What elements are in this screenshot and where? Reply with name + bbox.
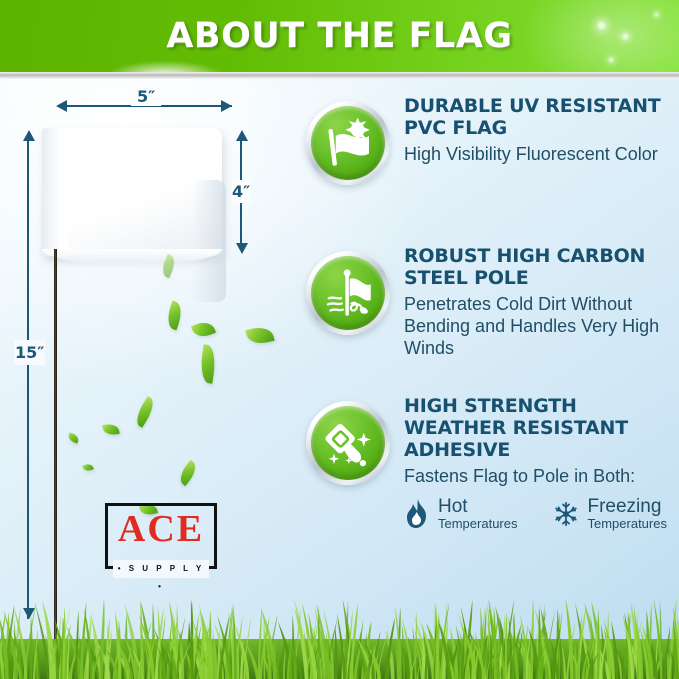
header-flare: [105, 60, 225, 72]
temperature-main-label: Hot: [438, 497, 517, 517]
flame-icon: [404, 499, 430, 529]
temperature-main-label: Freezing: [587, 497, 666, 517]
temperature-label-group: Freezing Temperatures: [587, 497, 666, 531]
width-arrow-left-icon: [56, 100, 67, 112]
leaf-icon: [176, 460, 200, 486]
ace-supply-logo: ACE • S U P P L Y •: [105, 503, 217, 569]
leaf-icon: [198, 344, 217, 384]
feature-item-uv-resistant: DURABLE UV RESISTANT PVC FLAG High Visib…: [300, 95, 679, 245]
temperature-label-group: Hot Temperatures: [438, 497, 517, 531]
feature-title: ROBUST HIGH CARBON STEEL POLE: [404, 245, 679, 289]
leaf-icon: [191, 319, 216, 341]
height-dimension-label: 4″: [232, 180, 250, 203]
infographic-page: ABOUT THE FLAG 5″ 4″ 15″: [0, 0, 679, 679]
feature-badge: [306, 251, 390, 335]
feature-item-adhesive: HIGH STRENGTH WEATHER RESISTANT ADHESIVE…: [300, 395, 679, 545]
pole-arrow-up-icon: [23, 130, 35, 141]
width-arrow-right-icon: [221, 100, 232, 112]
temperature-sub-label: Temperatures: [587, 517, 666, 531]
leaf-icon: [132, 396, 158, 428]
pole-dimension-line: [27, 141, 29, 619]
feature-description: Fastens Flag to Pole in Both:: [404, 465, 679, 487]
leaf-icon: [102, 423, 119, 436]
sparkle-icon: [609, 58, 613, 62]
feature-badge: [306, 401, 390, 485]
flag-shading: [192, 180, 226, 302]
temperature-sub-label: Temperatures: [438, 517, 517, 531]
temperature-item-freezing: Freezing Temperatures: [553, 497, 666, 531]
feature-list: DURABLE UV RESISTANT PVC FLAG High Visib…: [300, 95, 679, 545]
pole-dimension-label: 15″: [14, 340, 45, 365]
feature-description: Penetrates Cold Dirt Without Bending and…: [404, 293, 679, 359]
flag-graphic: [42, 128, 222, 256]
page-title: ABOUT THE FLAG: [0, 16, 679, 56]
leaf-icon: [67, 432, 80, 443]
header-divider: [0, 72, 679, 79]
flag-wind-icon: [311, 256, 385, 330]
width-dimension-label: 5″: [131, 87, 161, 106]
feature-description: High Visibility Fluorescent Color: [404, 143, 679, 165]
leaf-icon: [245, 324, 274, 347]
temperature-list: Hot Temperatures: [404, 497, 679, 531]
height-arrow-up-icon: [236, 130, 248, 141]
feature-item-steel-pole: ROBUST HIGH CARBON STEEL POLE Penetrates…: [300, 245, 679, 395]
height-arrow-down-icon: [236, 243, 248, 254]
feature-title: HIGH STRENGTH WEATHER RESISTANT ADHESIVE: [404, 395, 679, 461]
grass-blades: [0, 587, 679, 679]
leaf-icon: [164, 301, 185, 331]
logo-tagline-wrap: • S U P P L Y •: [113, 560, 209, 578]
feature-badge: [306, 101, 390, 185]
grass-strip: [0, 587, 679, 679]
header-banner: ABOUT THE FLAG: [0, 0, 679, 72]
leaf-icon: [82, 463, 94, 473]
logo-brand-text: ACE: [105, 508, 217, 550]
temperature-item-hot: Hot Temperatures: [404, 497, 517, 531]
flag-dimension-diagram: 5″ 4″ 15″ ACE • S U P: [0, 79, 300, 619]
glue-bottle-icon: [311, 406, 385, 480]
feature-title: DURABLE UV RESISTANT PVC FLAG: [404, 95, 679, 139]
flag-sun-icon: [311, 106, 385, 180]
snowflake-icon: [553, 499, 579, 529]
